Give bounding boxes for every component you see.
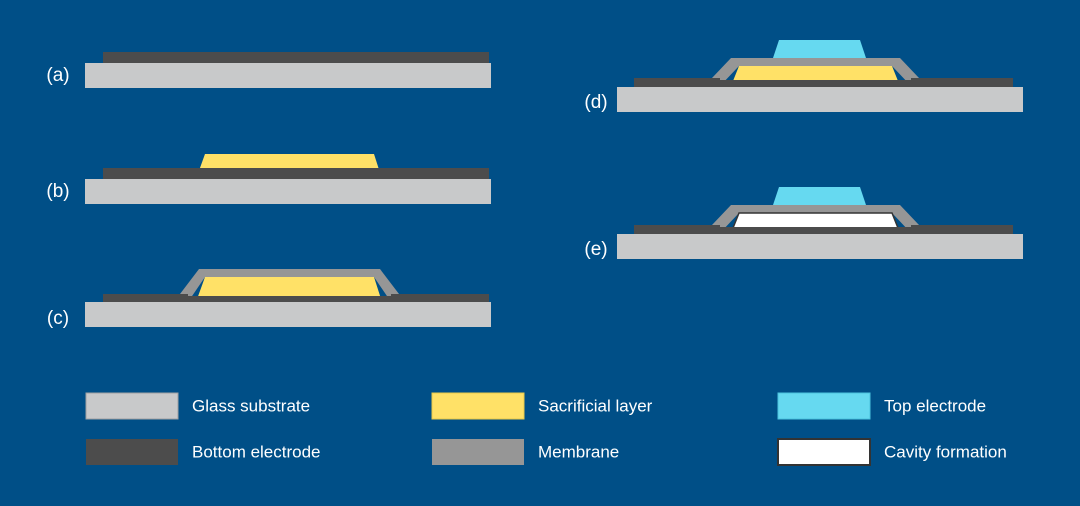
legend-swatch-sacrificial-layer xyxy=(432,393,524,419)
legend-item-cavity-formation: Cavity formation xyxy=(778,439,1007,465)
process-flow-figure: (a) (b) (c) (d) (e) xyxy=(0,0,1080,506)
legend-swatch-top-electrode xyxy=(778,393,870,419)
panel-c-bottom-electrode-left xyxy=(103,294,188,302)
legend-swatch-cavity-formation xyxy=(778,439,870,465)
legend-label-cavity-formation: Cavity formation xyxy=(884,442,1007,461)
legend-swatch-glass-substrate xyxy=(86,393,178,419)
panel-e-top-electrode xyxy=(773,187,866,205)
panel-e-glass-substrate xyxy=(617,234,1023,259)
panel-b-glass-substrate xyxy=(85,179,491,204)
panel-e-bottom-electrode-center xyxy=(720,227,912,234)
legend-label-membrane: Membrane xyxy=(538,442,619,461)
panel-c-label: (c) xyxy=(47,308,69,329)
legend-label-sacrificial-layer: Sacrificial layer xyxy=(538,396,653,415)
panel-e-bottom-electrode-right xyxy=(911,225,1013,234)
legend-label-bottom-electrode: Bottom electrode xyxy=(192,442,321,461)
legend-label-top-electrode: Top electrode xyxy=(884,396,986,415)
panel-d-bottom-electrode-right xyxy=(911,78,1013,87)
legend-item-glass-substrate: Glass substrate xyxy=(86,393,310,419)
panel-d-top-electrode xyxy=(773,40,866,58)
legend-item-sacrificial-layer: Sacrificial layer xyxy=(432,393,653,419)
panel-a-bottom-electrode xyxy=(103,52,489,63)
legend-label-glass-substrate: Glass substrate xyxy=(192,396,310,415)
panel-a-glass-substrate xyxy=(85,63,491,88)
panel-b-label: (b) xyxy=(46,181,69,202)
panel-c-glass-substrate xyxy=(85,302,491,327)
legend-swatch-membrane xyxy=(432,439,524,465)
panel-a: (a) xyxy=(46,52,491,88)
panel-c-bottom-electrode-center xyxy=(188,296,394,302)
legend-item-bottom-electrode: Bottom electrode xyxy=(86,439,321,465)
legend-swatch-bottom-electrode xyxy=(86,439,178,465)
panel-a-label: (a) xyxy=(46,65,69,86)
panel-d-bottom-electrode-left xyxy=(634,78,720,87)
panel-d-glass-substrate xyxy=(617,87,1023,112)
panel-e-bottom-electrode-left xyxy=(634,225,720,234)
panel-c-bottom-electrode-right xyxy=(391,294,489,302)
panel-d-bottom-electrode-center xyxy=(720,80,912,87)
panel-d-label: (d) xyxy=(584,92,607,113)
panel-e-label: (e) xyxy=(584,239,607,260)
panel-b-bottom-electrode xyxy=(103,168,489,179)
